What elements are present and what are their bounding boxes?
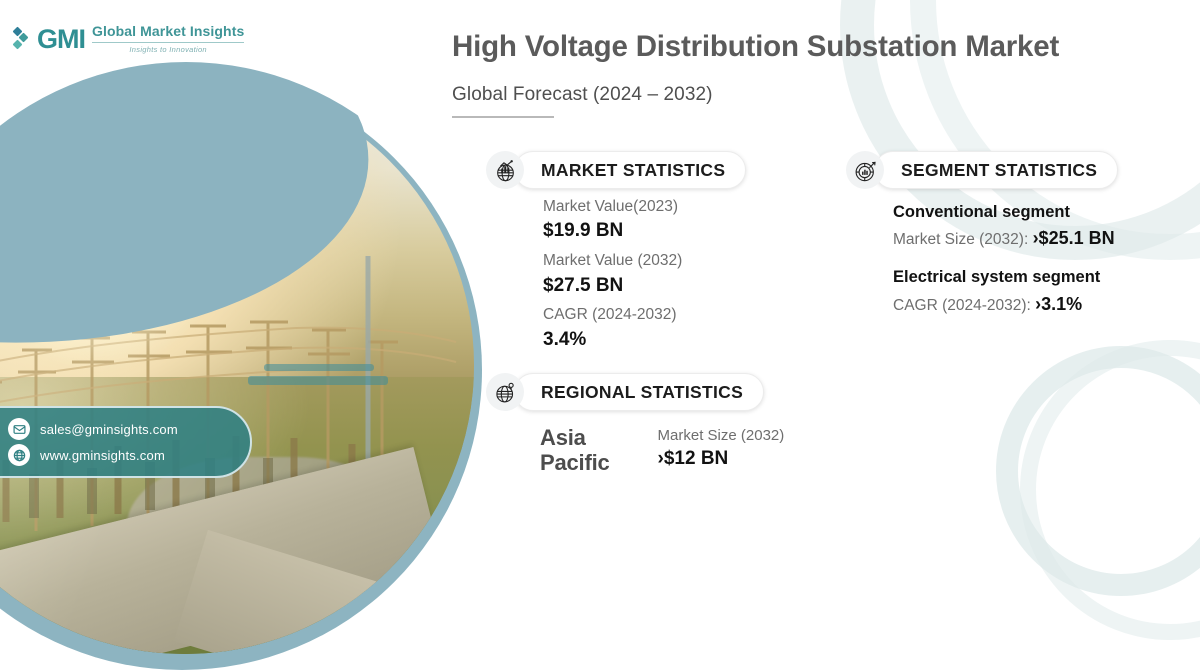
section-header-market-statistics: MARKET STATISTICS	[486, 151, 746, 189]
header-divider	[452, 116, 554, 118]
region-metric: Market Size (2032) ›$12 BN	[658, 425, 785, 470]
page-subtitle: Global Forecast (2024 – 2032)	[452, 84, 713, 106]
hero-image-circle	[0, 70, 482, 670]
segment-heading: Electrical system segment	[893, 264, 1115, 290]
logo-tagline: Insights to Innovation	[92, 45, 244, 54]
segment-statistics-values: Conventional segment Market Size (2032):…	[893, 199, 1115, 330]
logo-divider	[92, 42, 244, 43]
segment-metric-label: Market Size (2032):	[893, 231, 1033, 248]
segment-heading: Conventional segment	[893, 199, 1115, 225]
envelope-icon	[8, 418, 30, 440]
market-statistics-label[interactable]: MARKET STATISTICS	[514, 151, 746, 189]
market-row-value: $27.5 BN	[543, 273, 682, 299]
globe-pin-icon	[486, 373, 524, 411]
contact-website-text: www.gminsights.com	[40, 448, 165, 463]
market-statistics-values: Market Value(2023) $19.9 BN Market Value…	[543, 196, 682, 358]
donut-chart-target-icon	[846, 151, 884, 189]
segment-metric-row: Market Size (2032): ›$25.1 BN	[893, 225, 1115, 252]
section-header-segment-statistics: SEGMENT STATISTICS	[846, 151, 1118, 189]
contact-email-text: sales@gminsights.com	[40, 422, 178, 437]
segment-metric-row: CAGR (2024-2032): ›3.1%	[893, 291, 1115, 318]
gmi-logo[interactable]: GMI Global Market Insights Insights to I…	[14, 24, 244, 54]
regional-statistics-label[interactable]: REGIONAL STATISTICS	[514, 373, 764, 411]
market-row-value: $19.9 BN	[543, 218, 682, 244]
photo-haze-layer	[0, 76, 474, 654]
market-row-label: Market Value(2023)	[543, 196, 682, 218]
region-metric-label: Market Size (2032)	[658, 425, 785, 448]
region-name-line2: Pacific	[540, 450, 610, 475]
segment-metric-value: ›3.1%	[1035, 294, 1082, 314]
market-row-label: Market Value (2032)	[543, 250, 682, 272]
diamond-cluster-icon	[14, 26, 30, 52]
regional-statistics-values: Asia Pacific Market Size (2032) ›$12 BN	[540, 425, 784, 476]
segment-metric-label: CAGR (2024-2032):	[893, 297, 1035, 314]
section-header-regional-statistics: REGIONAL STATISTICS	[486, 373, 764, 411]
region-name-line1: Asia	[540, 425, 610, 450]
contact-website-row[interactable]: www.gminsights.com	[8, 444, 250, 466]
logo-mark-text: GMI	[37, 26, 85, 53]
segment-statistics-label[interactable]: SEGMENT STATISTICS	[874, 151, 1118, 189]
logo-wordmark: Global Market Insights Insights to Innov…	[92, 24, 244, 54]
globe-icon	[8, 444, 30, 466]
decorative-arc-bottom-right	[996, 346, 1200, 596]
region-name: Asia Pacific	[540, 425, 610, 476]
contact-pill: sales@gminsights.com www.gminsights.com	[0, 406, 252, 478]
logo-company-name: Global Market Insights	[92, 24, 244, 39]
market-row-value: 3.4%	[543, 327, 682, 353]
market-row-label: CAGR (2024-2032)	[543, 304, 682, 326]
contact-email-row[interactable]: sales@gminsights.com	[8, 418, 250, 440]
segment-metric-value: ›$25.1 BN	[1033, 228, 1115, 248]
globe-bar-chart-icon	[486, 151, 524, 189]
page-title: High Voltage Distribution Substation Mar…	[452, 30, 1164, 63]
region-metric-value: ›$12 BN	[658, 448, 785, 470]
hero-photo-substation	[0, 76, 474, 654]
